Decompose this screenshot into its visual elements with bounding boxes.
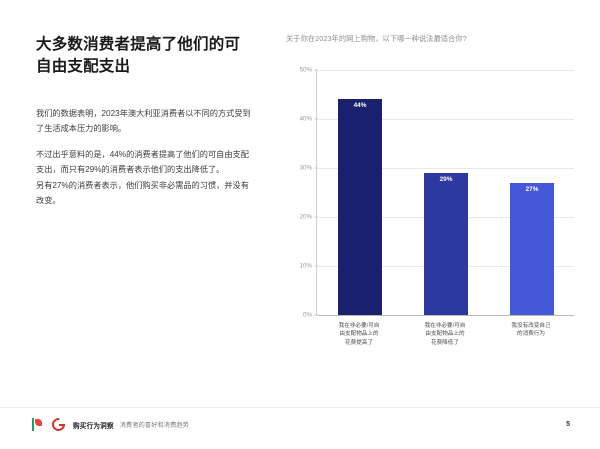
x-axis-category-label: 我在非必要/可自由支配物品上的花费提高了 (316, 322, 402, 348)
y-axis-tick-mark (314, 314, 318, 315)
x-axis-category-line: 花费提高了 (316, 339, 402, 348)
bar-value-label: 29% (424, 176, 468, 183)
chart-column: 关于你在2023年的网上购物，以下哪一种说法最适合你? 44%29%27% 我在… (286, 34, 574, 354)
x-axis-category-line: 的消费行为 (488, 330, 574, 339)
paragraph-3: 另有27%的消费者表示，他们购买非必需品的习惯，并没有改变。 (36, 178, 251, 208)
x-axis-category-label: 我在非必要/可自由支配物品上的花费降低了 (402, 322, 488, 348)
slide-canvas: 大多数消费者提高了他们的可自由支配支出 我们的数据表明，2023年澳大利亚消费者… (0, 0, 600, 449)
y-axis-tick-label: 0% (286, 311, 312, 318)
y-axis-tick-mark (314, 69, 318, 70)
y-axis-tick-label: 30% (286, 164, 312, 171)
g-crossbar-shape (59, 424, 65, 426)
x-axis-labels: 我在非必要/可自由支配物品上的花费提高了我在非必要/可自由支配物品上的花费降低了… (316, 322, 574, 356)
x-axis-category-label: 我没有改变自己的消费行为 (488, 322, 574, 339)
bar-value-label: 44% (338, 102, 382, 109)
bar[interactable]: 27% (510, 183, 554, 315)
plot-area: 44%29%27% (316, 70, 574, 315)
chart-question-title: 关于你在2023年的网上购物，以下哪一种说法最适合你? (286, 34, 574, 45)
bar-value-label: 27% (510, 186, 554, 193)
gridline (317, 70, 574, 71)
paragraph-1: 我们的数据表明，2023年澳大利亚消费者以不同的方式受到了生活成本压力的影响。 (36, 106, 251, 136)
body-copy: 我们的数据表明，2023年澳大利亚消费者以不同的方式受到了生活成本压力的影响。 … (36, 106, 251, 208)
footer-title: 购买行为洞察 (73, 420, 114, 430)
bar-slot: 44% (317, 99, 403, 315)
y-axis-tick-label: 10% (286, 262, 312, 269)
footer-subtitle: 消费者的喜好和消费趋势 (120, 420, 189, 429)
y-axis-tick-mark (314, 118, 318, 119)
bar-chart: 44%29%27% 我在非必要/可自由支配物品上的花费提高了我在非必要/可自由支… (286, 64, 574, 354)
footer-content: 购买行为洞察 消费者的喜好和消费趋势 5 (32, 418, 570, 431)
y-axis-tick-mark (314, 167, 318, 168)
x-axis-category-line: 我在非必要/可自 (402, 322, 488, 331)
y-axis-tick-label: 20% (286, 213, 312, 220)
bar[interactable]: 29% (424, 173, 468, 315)
gridline (317, 315, 574, 316)
x-axis-category-line: 我没有改变自己 (488, 322, 574, 331)
x-axis-category-line: 我在非必要/可自 (316, 322, 402, 331)
y-axis-tick-label: 50% (286, 66, 312, 73)
footer-divider (0, 407, 600, 408)
bar-slot: 27% (489, 183, 575, 315)
x-axis-category-line: 由支配物品上的 (316, 330, 402, 339)
y-axis-tick-label: 40% (286, 115, 312, 122)
page-number: 5 (566, 421, 570, 428)
bar[interactable]: 44% (338, 99, 382, 315)
y-axis-tick-mark (314, 265, 318, 266)
flag-wave-shape (35, 419, 42, 426)
x-axis-category-line: 花费降低了 (402, 339, 488, 348)
x-axis-category-line: 由支配物品上的 (402, 330, 488, 339)
y-axis-tick-mark (314, 216, 318, 217)
footer: 购买行为洞察 消费者的喜好和消费趋势 5 (0, 407, 600, 449)
text-column: 大多数消费者提高了他们的可自由支配支出 我们的数据表明，2023年澳大利亚消费者… (36, 34, 251, 208)
flag-pole-shape (32, 418, 34, 431)
paragraph-2: 不过出乎意料的是，44%的消费者提高了他们的可自由支配支出，而只有29%的消费者… (36, 147, 251, 177)
bar-slot: 29% (403, 173, 489, 315)
page-title: 大多数消费者提高了他们的可自由支配支出 (36, 34, 251, 79)
google-g-logo-icon (52, 418, 65, 431)
flag-logo-icon (32, 418, 43, 431)
